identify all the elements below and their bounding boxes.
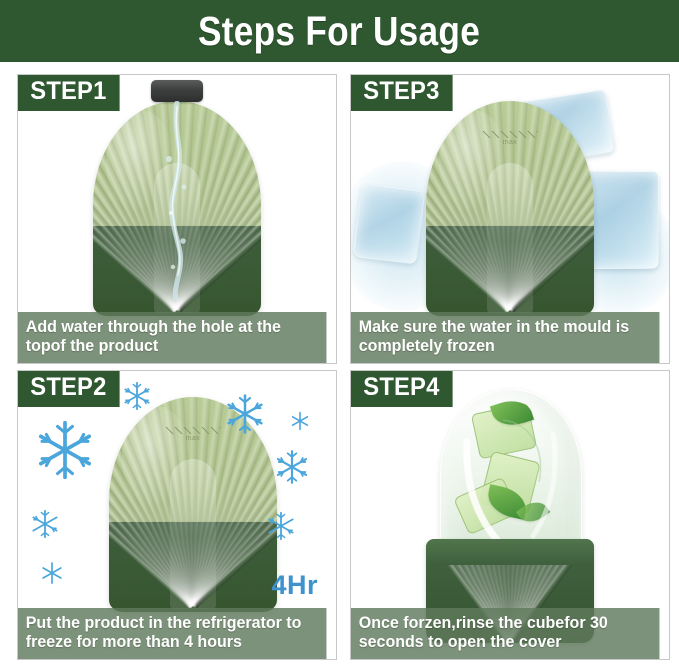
step-caption-1: Add water through the hole at the topof … [18,312,326,363]
snowflake-icon [224,393,266,435]
steps-grid: STEP1 Add water through the hole at the … [0,62,679,664]
mould-gloss [122,406,189,509]
max-fill-mark: max [479,131,541,146]
step-caption-2: Put the product in the refrigerator to f… [18,608,326,659]
step-panel-step4: STEP4 Once forzen,rinse the cubefor 30 s… [350,370,670,660]
mould-cap-icon [151,80,203,102]
step-badge-3: STEP3 [350,74,453,111]
water-stream-icon [160,101,194,301]
snowflake-icon [274,449,310,485]
max-zigzag-icon [482,131,538,138]
snowflake-icon [290,411,310,431]
snowflake-icon [34,419,96,481]
infographic-page: Steps For Usage [0,0,679,664]
snowflake-icon [122,381,152,411]
page-title: Steps For Usage [198,8,480,55]
step-panel-step3: max STEP3 Make sure the water in the mou… [350,74,670,364]
max-label: max [186,435,200,442]
step-badge-2: STEP2 [17,370,120,407]
header-banner: Steps For Usage [0,0,679,62]
max-fill-mark: max [162,427,224,442]
base-collar [426,539,594,565]
max-label: max [503,139,517,146]
max-zigzag-icon [165,427,221,434]
freeze-duration-label: 4Hr [271,570,318,601]
step-badge-4: STEP4 [350,370,453,407]
ice-cube-left [353,183,426,264]
mould-gloss [439,110,506,213]
snowflake-icon [266,511,296,541]
step-panel-step1: STEP1 Add water through the hole at the … [17,74,337,364]
step-caption-3: Make sure the water in the mould is comp… [351,312,659,363]
snowflake-icon [30,509,60,539]
step-panel-step2: max [17,370,337,660]
step-caption-4: Once forzen,rinse the cubefor 30 seconds… [351,608,659,659]
snowflake-icon [40,561,64,585]
step-badge-1: STEP1 [17,74,120,111]
product-mould: max [426,101,594,316]
